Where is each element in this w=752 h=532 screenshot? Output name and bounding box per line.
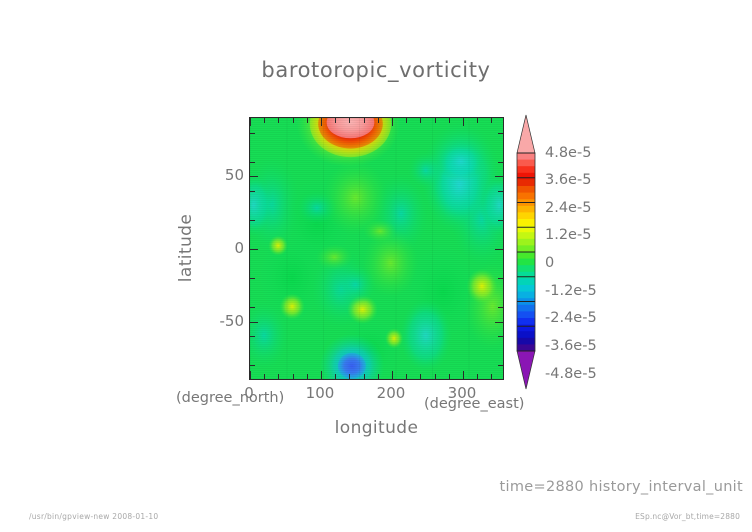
footer-source-info: ESp.nc@Vor_bt,time=2880 — [635, 512, 740, 521]
y-tick-right-minor — [498, 162, 503, 163]
x-tick-minor — [293, 374, 294, 379]
x-tick-top-minor — [307, 118, 308, 123]
y-tick-label: 0 — [212, 239, 244, 257]
x-tick-top-minor — [349, 118, 350, 123]
x-tick-top-minor — [406, 118, 407, 123]
x-tick-top-minor — [278, 118, 279, 123]
x-tick-minor — [364, 374, 365, 379]
colorbar-tick-label: -4.8e-5 — [545, 366, 597, 382]
x-tick-minor — [435, 374, 436, 379]
colorbar-tick-label: 4.8e-5 — [545, 145, 591, 161]
x-tick-minor — [378, 374, 379, 379]
x-tick-major — [321, 371, 322, 379]
x-tick-top-minor — [378, 118, 379, 123]
vorticity-field-heatmap — [250, 118, 503, 379]
x-tick-minor — [491, 374, 492, 379]
colorbar-tick-label: 3.6e-5 — [545, 172, 591, 188]
x-tick-major — [250, 371, 251, 379]
y-tick-minor — [250, 307, 255, 308]
x-axis-unit-label: (degree_east) — [424, 396, 524, 412]
y-tick-label: -50 — [204, 312, 244, 330]
y-axis-unit-label: (degree_north) — [176, 390, 284, 406]
colorbar-tick-label: -3.6e-5 — [545, 338, 597, 354]
x-tick-top-minor — [420, 118, 421, 123]
y-tick-minor — [250, 162, 255, 163]
y-axis-title: latitude — [176, 214, 196, 282]
y-tick-minor — [250, 336, 255, 337]
y-tick-right-minor — [498, 365, 503, 366]
x-tick-top-minor — [264, 118, 265, 123]
y-tick-minor — [250, 278, 255, 279]
colorbar-tick-label: 2.4e-5 — [545, 200, 591, 216]
y-tick-right-minor — [498, 278, 503, 279]
y-tick-minor — [250, 191, 255, 192]
y-tick-right-major — [495, 249, 503, 250]
contour-plot-area[interactable] — [249, 117, 504, 380]
y-tick-right-minor — [498, 133, 503, 134]
y-tick-major — [250, 176, 258, 177]
x-tick-major — [463, 371, 464, 379]
footer-command-info: /usr/bin/gpview-new 2008-01-10 — [29, 512, 158, 521]
x-tick-top-minor — [364, 118, 365, 123]
colorbar-tick-label: -1.2e-5 — [545, 283, 597, 299]
y-tick-label: 50 — [212, 166, 244, 184]
x-tick-label: 100 — [306, 384, 335, 402]
x-tick-top-major — [250, 118, 251, 126]
x-tick-top-minor — [477, 118, 478, 123]
x-tick-top-minor — [335, 118, 336, 123]
x-tick-minor — [264, 374, 265, 379]
x-tick-minor — [278, 374, 279, 379]
x-tick-minor — [335, 374, 336, 379]
y-tick-right-major — [495, 176, 503, 177]
x-tick-major — [392, 371, 393, 379]
y-tick-major — [250, 322, 258, 323]
y-tick-right-minor — [498, 307, 503, 308]
colorbar-under-arrow — [517, 351, 535, 389]
colorbar-over-arrow — [517, 115, 535, 153]
x-tick-top-minor — [449, 118, 450, 123]
x-tick-top-major — [392, 118, 393, 126]
x-axis-title: longitude — [249, 418, 504, 438]
colorbar-gradient — [515, 113, 537, 391]
y-tick-minor — [250, 365, 255, 366]
page-title: barotoropic_vorticity — [0, 58, 752, 82]
x-tick-minor — [477, 374, 478, 379]
x-tick-top-minor — [491, 118, 492, 123]
x-tick-minor — [420, 374, 421, 379]
colorbar-tick-label: 0 — [545, 255, 554, 271]
x-tick-top-major — [321, 118, 322, 126]
y-tick-right-minor — [498, 336, 503, 337]
x-tick-top-minor — [435, 118, 436, 123]
y-tick-minor — [250, 133, 255, 134]
x-tick-minor — [406, 374, 407, 379]
x-tick-minor — [307, 374, 308, 379]
y-tick-right-minor — [498, 191, 503, 192]
x-tick-minor — [349, 374, 350, 379]
colorbar[interactable] — [515, 113, 537, 391]
x-tick-label: 200 — [377, 384, 406, 402]
x-tick-top-major — [463, 118, 464, 126]
y-tick-major — [250, 249, 258, 250]
colorbar-tick-label: -2.4e-5 — [545, 310, 597, 326]
colorbar-tick-label: 1.2e-5 — [545, 227, 591, 243]
y-tick-right-minor — [498, 220, 503, 221]
x-tick-minor — [449, 374, 450, 379]
x-tick-top-minor — [293, 118, 294, 123]
y-tick-minor — [250, 220, 255, 221]
y-tick-right-major — [495, 322, 503, 323]
time-annotation: time=2880 history_interval_unit — [500, 479, 743, 495]
